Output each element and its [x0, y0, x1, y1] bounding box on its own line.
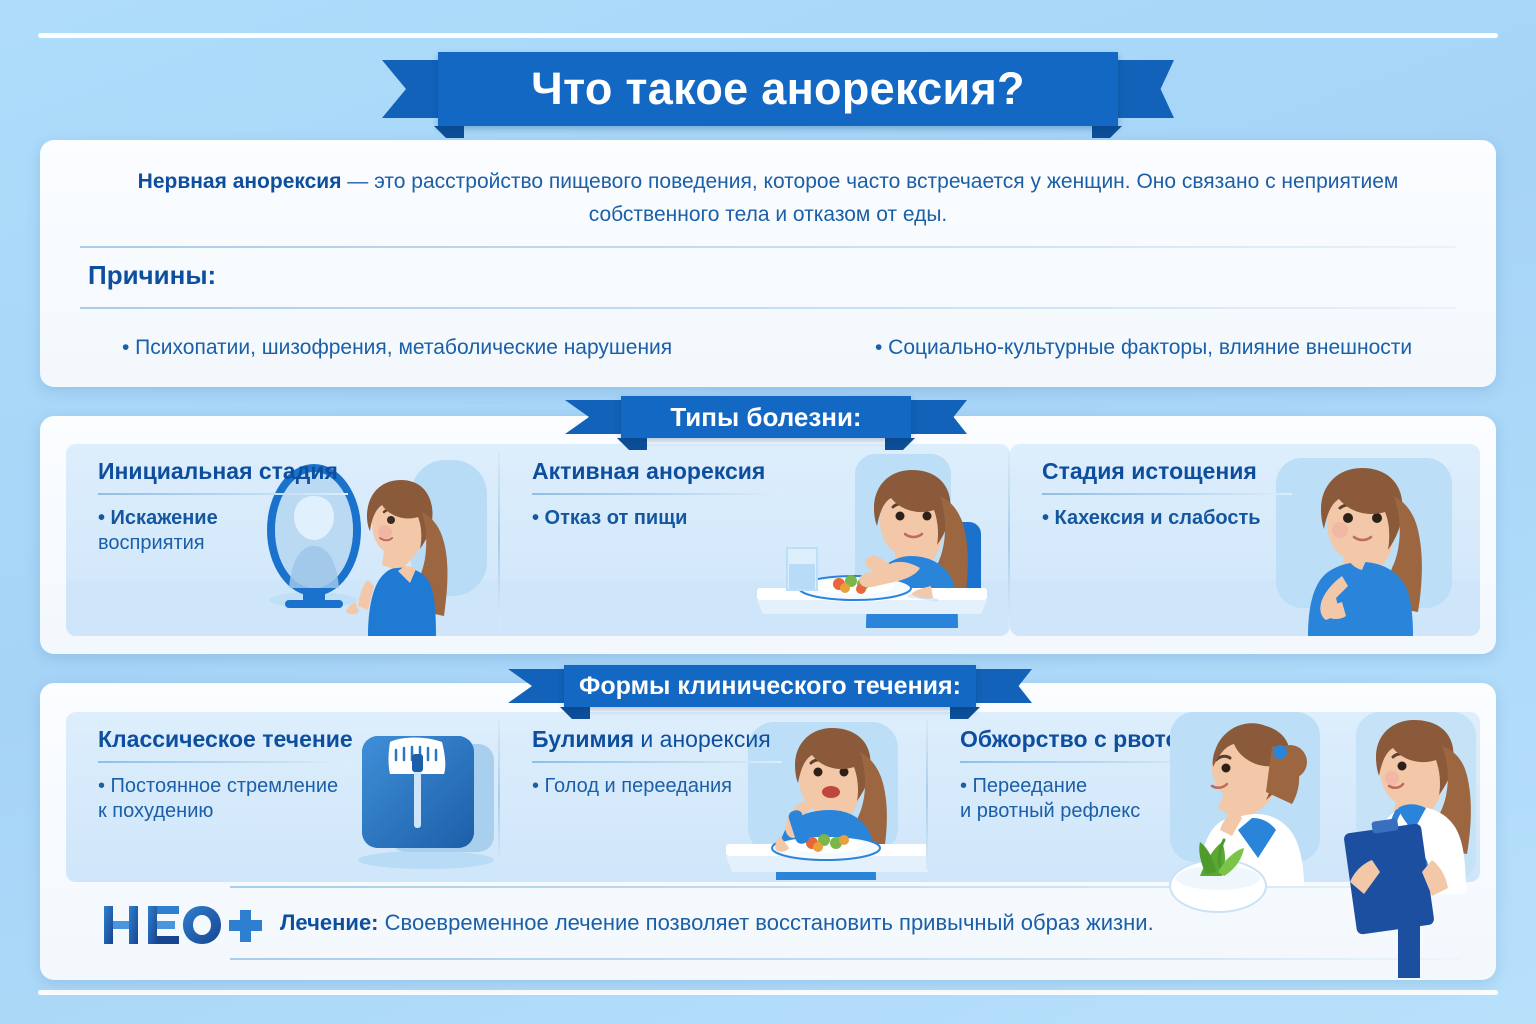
card-title-rule [1042, 493, 1292, 495]
form-card-bulimia: Булимия и анорексия • Голод и переедания [500, 712, 950, 882]
page-title: Что такое анорексия? [438, 52, 1118, 126]
intro-divider-top [80, 246, 1456, 248]
card-title-rule [98, 761, 348, 763]
card-title-rule [98, 493, 348, 495]
card-title: Обжорство с рвотой [960, 726, 1194, 753]
type-card-active: Активная анорексия • Отказ от пищи [500, 444, 1010, 636]
intro-paragraph: Нервная анорексия — это расстройство пищ… [80, 166, 1456, 231]
cause-item-0: • Психопатии, шизофрения, метаболические… [122, 336, 672, 360]
forms-ribbon-label: Формы клинического течения: [564, 665, 976, 707]
intro-panel: Нервная анорексия — это расстройство пищ… [40, 140, 1496, 387]
page-title-ribbon: Что такое анорексия? [382, 52, 1174, 126]
forms-ribbon: Формы клинического течения: [508, 665, 1032, 707]
treatment-label: Лечение: [280, 910, 379, 935]
ribbon-tail-right [1118, 60, 1174, 118]
card-bullet-strong: • Искажение [98, 507, 218, 529]
form-card-classic: Классическое течение • Постоянное стремл… [66, 712, 518, 882]
card-title: Активная анорексия [532, 458, 765, 485]
card-bullet: • Голод и переедания [532, 774, 732, 799]
card-bullet-rest: восприятия [98, 532, 205, 554]
footer: Лечение: Своевременное лечение позволяет… [40, 880, 1496, 980]
card-bullet-rest: к похудению [98, 800, 213, 822]
causes-heading: Причины: [88, 260, 216, 291]
types-ribbon: Типы болезни: [565, 396, 967, 438]
card-floor [66, 580, 518, 636]
card-title-rule [532, 493, 782, 495]
forms-divider-1 [498, 720, 500, 870]
weight-scale-icon [344, 726, 514, 872]
card-bullet-strong: • Постоянное стремление [98, 775, 338, 797]
types-divider-1 [498, 452, 500, 628]
card-title-strong: Классическое течение [98, 726, 353, 752]
intro-divider-bottom [80, 307, 1456, 309]
card-bullet: • Постоянное стремление к похудению [98, 774, 338, 824]
card-title-thin: и анорексия [634, 726, 771, 752]
ribbon-tail-right [976, 669, 1032, 703]
forms-divider-2 [926, 720, 928, 870]
card-bullet: • Кахексия и слабость [1042, 506, 1261, 531]
card-bullet-strong: • Переедание [960, 775, 1087, 797]
ribbon-fold-left [434, 126, 464, 138]
ribbon-tail-left [508, 669, 564, 703]
ribbon-tail-right [911, 400, 967, 434]
card-title-rule [532, 761, 782, 763]
card-bullet: • Отказ от пищи [532, 506, 687, 531]
card-title-strong: Булимия [532, 726, 634, 752]
ribbon-tail-left [382, 60, 438, 118]
types-ribbon-label: Типы болезни: [621, 396, 911, 438]
card-bullet: • Искажение восприятия [98, 506, 218, 556]
card-bullet-strong: • Голод и переедания [532, 775, 732, 797]
ribbon-tail-left [565, 400, 621, 434]
card-bullet-rest: и рвотный рефлекс [960, 800, 1140, 822]
type-card-exhaustion: Стадия истощения • Кахексия и слабость [1010, 444, 1480, 636]
intro-lead: Нервная анорексия [138, 170, 342, 193]
card-title: Стадия истощения [1042, 458, 1257, 485]
form-card-binge-vomit: Обжорство с рвотой • Переедание и рвотны… [928, 712, 1480, 882]
card-title: Классическое течение [98, 726, 353, 753]
card-bullet-strong: • Отказ от пищи [532, 507, 687, 529]
neo-plus-logo [102, 902, 262, 948]
intro-rest: — это расстройство пищевого поведения, к… [341, 170, 1398, 226]
decorative-stripe-top [38, 33, 1498, 38]
types-divider-2 [1008, 452, 1010, 628]
card-bullet-strong: • Кахексия и слабость [1042, 507, 1261, 529]
card-floor [500, 580, 1010, 636]
card-floor [1010, 580, 1480, 636]
card-title: Инициальная стадия [98, 458, 338, 485]
footer-divider-bottom [230, 958, 1460, 960]
card-title-rule [960, 761, 1210, 763]
type-card-initial: Инициальная стадия • Искажение восприяти… [66, 444, 518, 636]
card-title-strong: Обжорство с рвотой [960, 726, 1194, 752]
decorative-stripe-bottom [38, 990, 1498, 995]
card-bullet: • Переедание и рвотный рефлекс [960, 774, 1140, 824]
ribbon-fold-right [1092, 126, 1122, 138]
cause-item-1: • Социально-культурные факторы, влияние … [875, 336, 1412, 360]
treatment-body: Своевременное лечение позволяет восстано… [379, 910, 1154, 935]
treatment-text: Лечение: Своевременное лечение позволяет… [280, 910, 1154, 936]
footer-divider-top [230, 886, 1460, 888]
card-title: Булимия и анорексия [532, 726, 771, 753]
